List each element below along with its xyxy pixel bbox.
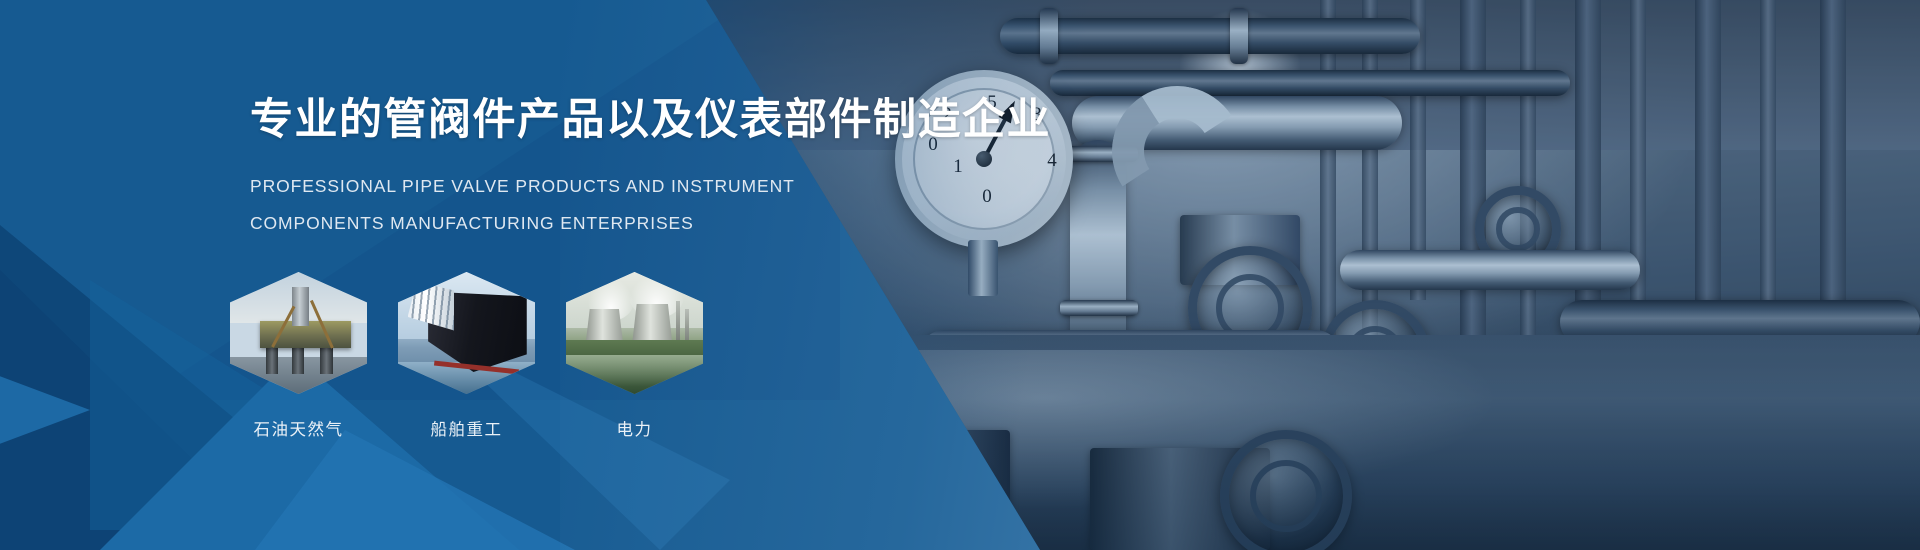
rig-leg [320, 345, 332, 374]
hero-text-block: 专业的管阀件产品以及仪表部件制造企业 PROFESSIONAL PIPE VAL… [250, 96, 970, 232]
industry-tile-label: 石油天然气 [230, 416, 367, 440]
water-reflection [566, 355, 703, 394]
industry-tile-oil-gas[interactable]: 石油天然气 [230, 272, 367, 440]
ship-photo [398, 272, 535, 394]
page-title: 专业的管阀件产品以及仪表部件制造企业 [250, 96, 970, 145]
subtitle-line-1: PROFESSIONAL PIPE VALVE PRODUCTS AND INS… [250, 178, 970, 196]
ship-hexagon-image[interactable] [398, 272, 535, 394]
oil-rig-hexagon-image[interactable] [230, 272, 367, 394]
industry-tile-shipbuilding[interactable]: 船舶重工 [398, 272, 535, 440]
rig-leg [292, 345, 304, 374]
power-plant-hexagon-image[interactable] [566, 272, 703, 394]
industry-tile-power[interactable]: 电力 [566, 272, 703, 440]
hero-banner: 0 2 5 3 4 1 0 [0, 0, 1920, 550]
oil-rig-photo [230, 272, 367, 394]
power-plant-photo [566, 272, 703, 394]
subtitle-line-2: COMPONENTS MANUFACTURING ENTERPRISES [250, 215, 970, 233]
industry-tile-label: 船舶重工 [398, 416, 535, 440]
rig-leg [266, 345, 278, 374]
industry-tile-label: 电力 [566, 416, 703, 440]
